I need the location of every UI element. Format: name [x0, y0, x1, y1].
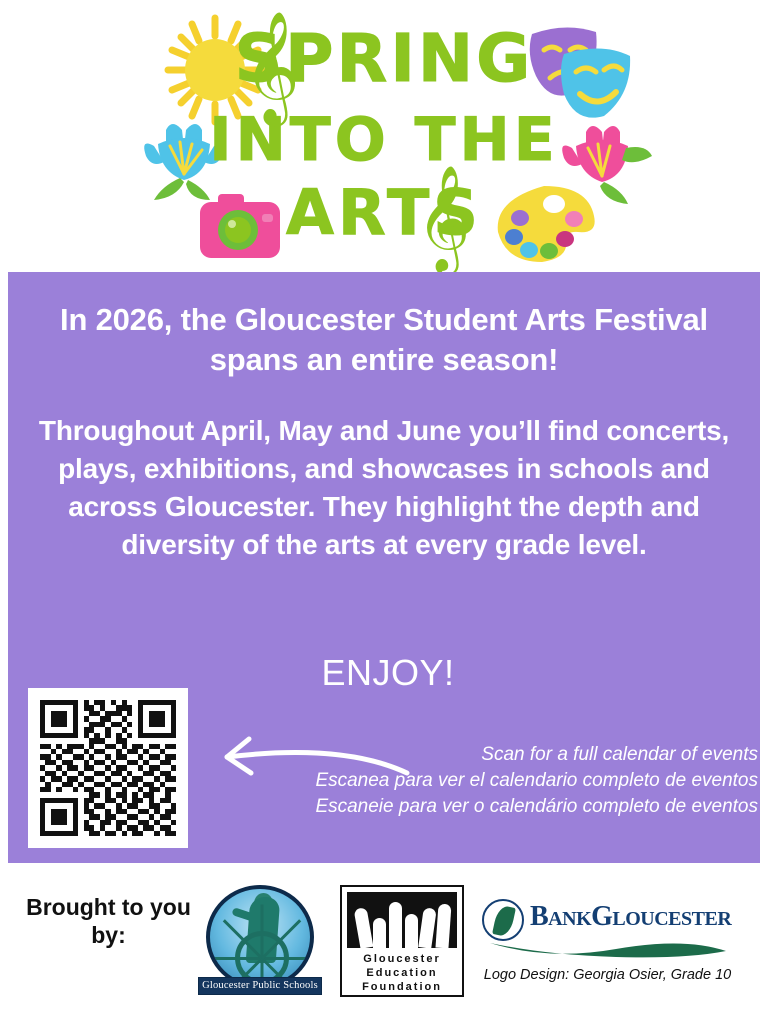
logo-line-1: Spring	[0, 26, 768, 92]
enjoy-text: ENJOY!	[188, 652, 588, 694]
bank-swoosh-icon	[488, 935, 728, 959]
info-panel: In 2026, the Gloucester Student Arts Fes…	[8, 272, 760, 863]
brought-to-you-by-label: Brought to you by:	[26, 893, 191, 949]
bank-wordmark: BankGloucester	[530, 901, 731, 933]
sail-leaf-shape	[492, 904, 516, 937]
headline-text: In 2026, the Gloucester Student Arts Fes…	[42, 300, 726, 380]
scan-line-en: Scan for a full calendar of events	[198, 742, 758, 768]
poster-footer: Brought to you by: Gloucester Public	[0, 863, 768, 1024]
spring-into-the-arts-logo: Spring Into the Arts 𝄞 𝄞	[0, 0, 768, 272]
gef-line-1: Gloucester	[347, 952, 457, 966]
treble-clef-icon: 𝄞	[416, 172, 470, 264]
logo-line-2: Into the	[0, 110, 768, 170]
logo-design-credit: Logo Design: Georgia Osier, Grade 10	[460, 967, 755, 983]
logo-wordmark: Spring Into the Arts 𝄞 𝄞	[0, 0, 768, 272]
body-text: Throughout April, May and June you’ll fi…	[30, 412, 738, 564]
poster-header: Spring Into the Arts 𝄞 𝄞	[0, 0, 768, 272]
treble-clef-icon: 𝄞	[243, 18, 300, 114]
qr-code[interactable]	[28, 688, 188, 848]
scan-line-es: Escanea para ver el calendario completo …	[198, 768, 758, 794]
qr-modules	[40, 700, 176, 836]
sponsor-logo-gloucester-public-schools: Gloucester Public Schools	[198, 885, 322, 1003]
scan-line-pt: Escaneie para ver o calendário completo …	[198, 794, 758, 820]
gef-caption: Gloucester Education Foundation	[347, 952, 457, 994]
gef-line-2: Education	[347, 966, 457, 980]
scan-instructions: Scan for a full calendar of events Escan…	[198, 742, 766, 820]
gps-caption: Gloucester Public Schools	[198, 977, 322, 995]
gef-line-3: Foundation	[347, 980, 457, 994]
gps-emblem	[206, 885, 314, 989]
sponsor-logo-gloucester-education-foundation: Gloucester Education Foundation	[340, 885, 464, 997]
sponsor-logo-bank-gloucester: BankGloucester	[482, 891, 732, 961]
raised-hands-icon	[347, 892, 457, 948]
logo-line-3: Arts	[0, 182, 768, 244]
poster: Spring Into the Arts 𝄞 𝄞 In 2026, the Gl…	[0, 0, 768, 1024]
